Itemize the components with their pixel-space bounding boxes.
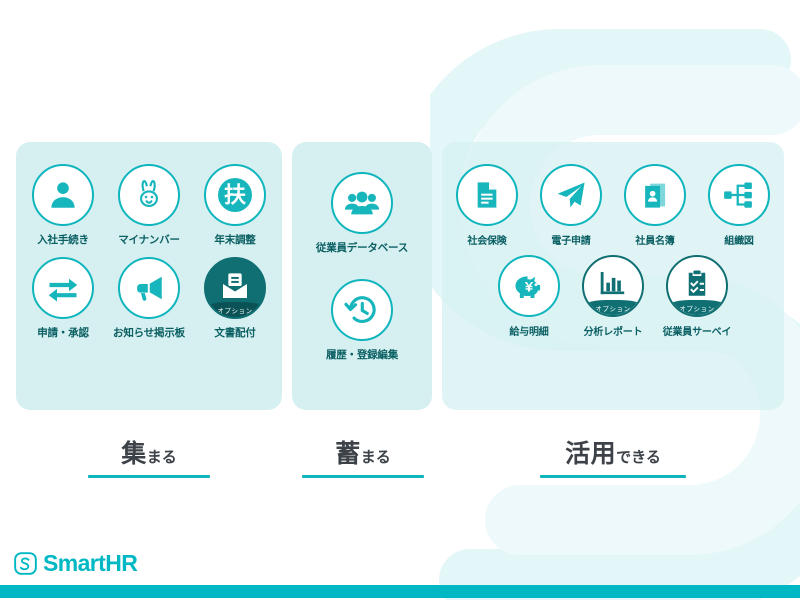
section-label-utilize: 活用できる [540, 434, 686, 478]
panel-collect: 入社手続き マイナンバー [16, 142, 282, 410]
feature-label: 入社手続き [37, 232, 89, 247]
footer-accent-bar [0, 585, 800, 598]
org-chart-icon [708, 164, 770, 226]
feature-label: 文書配付 [214, 325, 255, 340]
paper-plane-icon [540, 164, 602, 226]
feature-item[interactable]: オプション 文書配付 [194, 257, 276, 340]
smarthr-logo: SmartHR [14, 552, 137, 575]
feature-label: 社員名簿 [635, 232, 674, 247]
feature-label: 組織図 [724, 232, 753, 247]
feature-item[interactable]: 電子申請 [531, 164, 611, 247]
envelope-document-icon: オプション [204, 257, 266, 319]
slide-canvas: 入社手続き マイナンバー [0, 0, 800, 600]
feature-item[interactable]: オプション 従業員サーベイ [657, 255, 737, 338]
panel-store-grid: 従業員データベース 履歴・登録編集 [292, 172, 432, 386]
feature-item[interactable]: オプション 分析レポート [573, 255, 653, 338]
section-kanji: 蓄 [335, 439, 361, 468]
feature-item[interactable]: 給与明細 [489, 255, 569, 338]
panel-utilize-grid: 社会保険 電子申請 [442, 164, 784, 346]
feature-label: 従業員サーベイ [663, 323, 732, 338]
feature-item[interactable]: 扶 年末調整 [194, 164, 276, 247]
bar-chart-icon: オプション [582, 255, 644, 317]
section-label-collect: 集まる [88, 434, 210, 478]
rabbit-icon [118, 164, 180, 226]
feature-label: 従業員データベース [316, 240, 408, 255]
history-clock-icon [331, 279, 393, 341]
feature-label: 年末調整 [214, 232, 255, 247]
section-kanji: 活用 [565, 439, 616, 468]
section-kana: まる [361, 448, 391, 466]
feature-label: 電子申請 [551, 232, 590, 247]
feature-item[interactable]: 従業員データベース [302, 172, 422, 255]
feature-item[interactable]: 履歴・登録編集 [302, 279, 422, 362]
section-kana: できる [616, 448, 661, 466]
feature-item[interactable]: お知らせ掲示板 [108, 257, 190, 340]
section-kana: まる [147, 448, 177, 466]
panel-utilize: 社会保険 電子申請 [442, 142, 784, 410]
section-underline [302, 475, 424, 478]
section-underline [88, 475, 210, 478]
smarthr-s-logo-icon [14, 552, 37, 575]
svg-text:扶: 扶 [224, 184, 246, 209]
megaphone-icon [118, 257, 180, 319]
section-kanji: 集 [121, 439, 147, 468]
two-way-arrows-icon [32, 257, 94, 319]
clipboard-check-icon: オプション [666, 255, 728, 317]
option-badge: オプション [204, 302, 266, 317]
section-label-store: 蓄まる [302, 434, 424, 478]
panel-collect-grid: 入社手続き マイナンバー [16, 164, 282, 350]
feature-item[interactable]: 入社手続き [22, 164, 104, 247]
people-group-icon [331, 172, 393, 234]
feature-label: 給与明細 [509, 323, 548, 338]
panel-store: 従業員データベース 履歴・登録編集 [292, 142, 432, 410]
document-icon [456, 164, 518, 226]
feature-label: 申請・承認 [37, 325, 89, 340]
smarthr-wordmark: SmartHR [43, 552, 137, 575]
feature-label: 履歴・登録編集 [326, 347, 398, 362]
feature-label: お知らせ掲示板 [113, 325, 185, 340]
feature-label: 社会保険 [467, 232, 506, 247]
feature-label: マイナンバー [118, 232, 180, 247]
person-icon [32, 164, 94, 226]
section-underline [540, 475, 686, 478]
piggy-bank-yen-icon [498, 255, 560, 317]
option-badge: オプション [582, 300, 644, 315]
fu-kanji-icon: 扶 [204, 164, 266, 226]
option-badge: オプション [666, 300, 728, 315]
feature-item[interactable]: 申請・承認 [22, 257, 104, 340]
feature-item[interactable]: 社会保険 [447, 164, 527, 247]
address-book-icon [624, 164, 686, 226]
feature-label: 分析レポート [584, 323, 643, 338]
feature-item[interactable]: 社員名簿 [615, 164, 695, 247]
feature-item[interactable]: 組織図 [699, 164, 779, 247]
feature-item[interactable]: マイナンバー [108, 164, 190, 247]
